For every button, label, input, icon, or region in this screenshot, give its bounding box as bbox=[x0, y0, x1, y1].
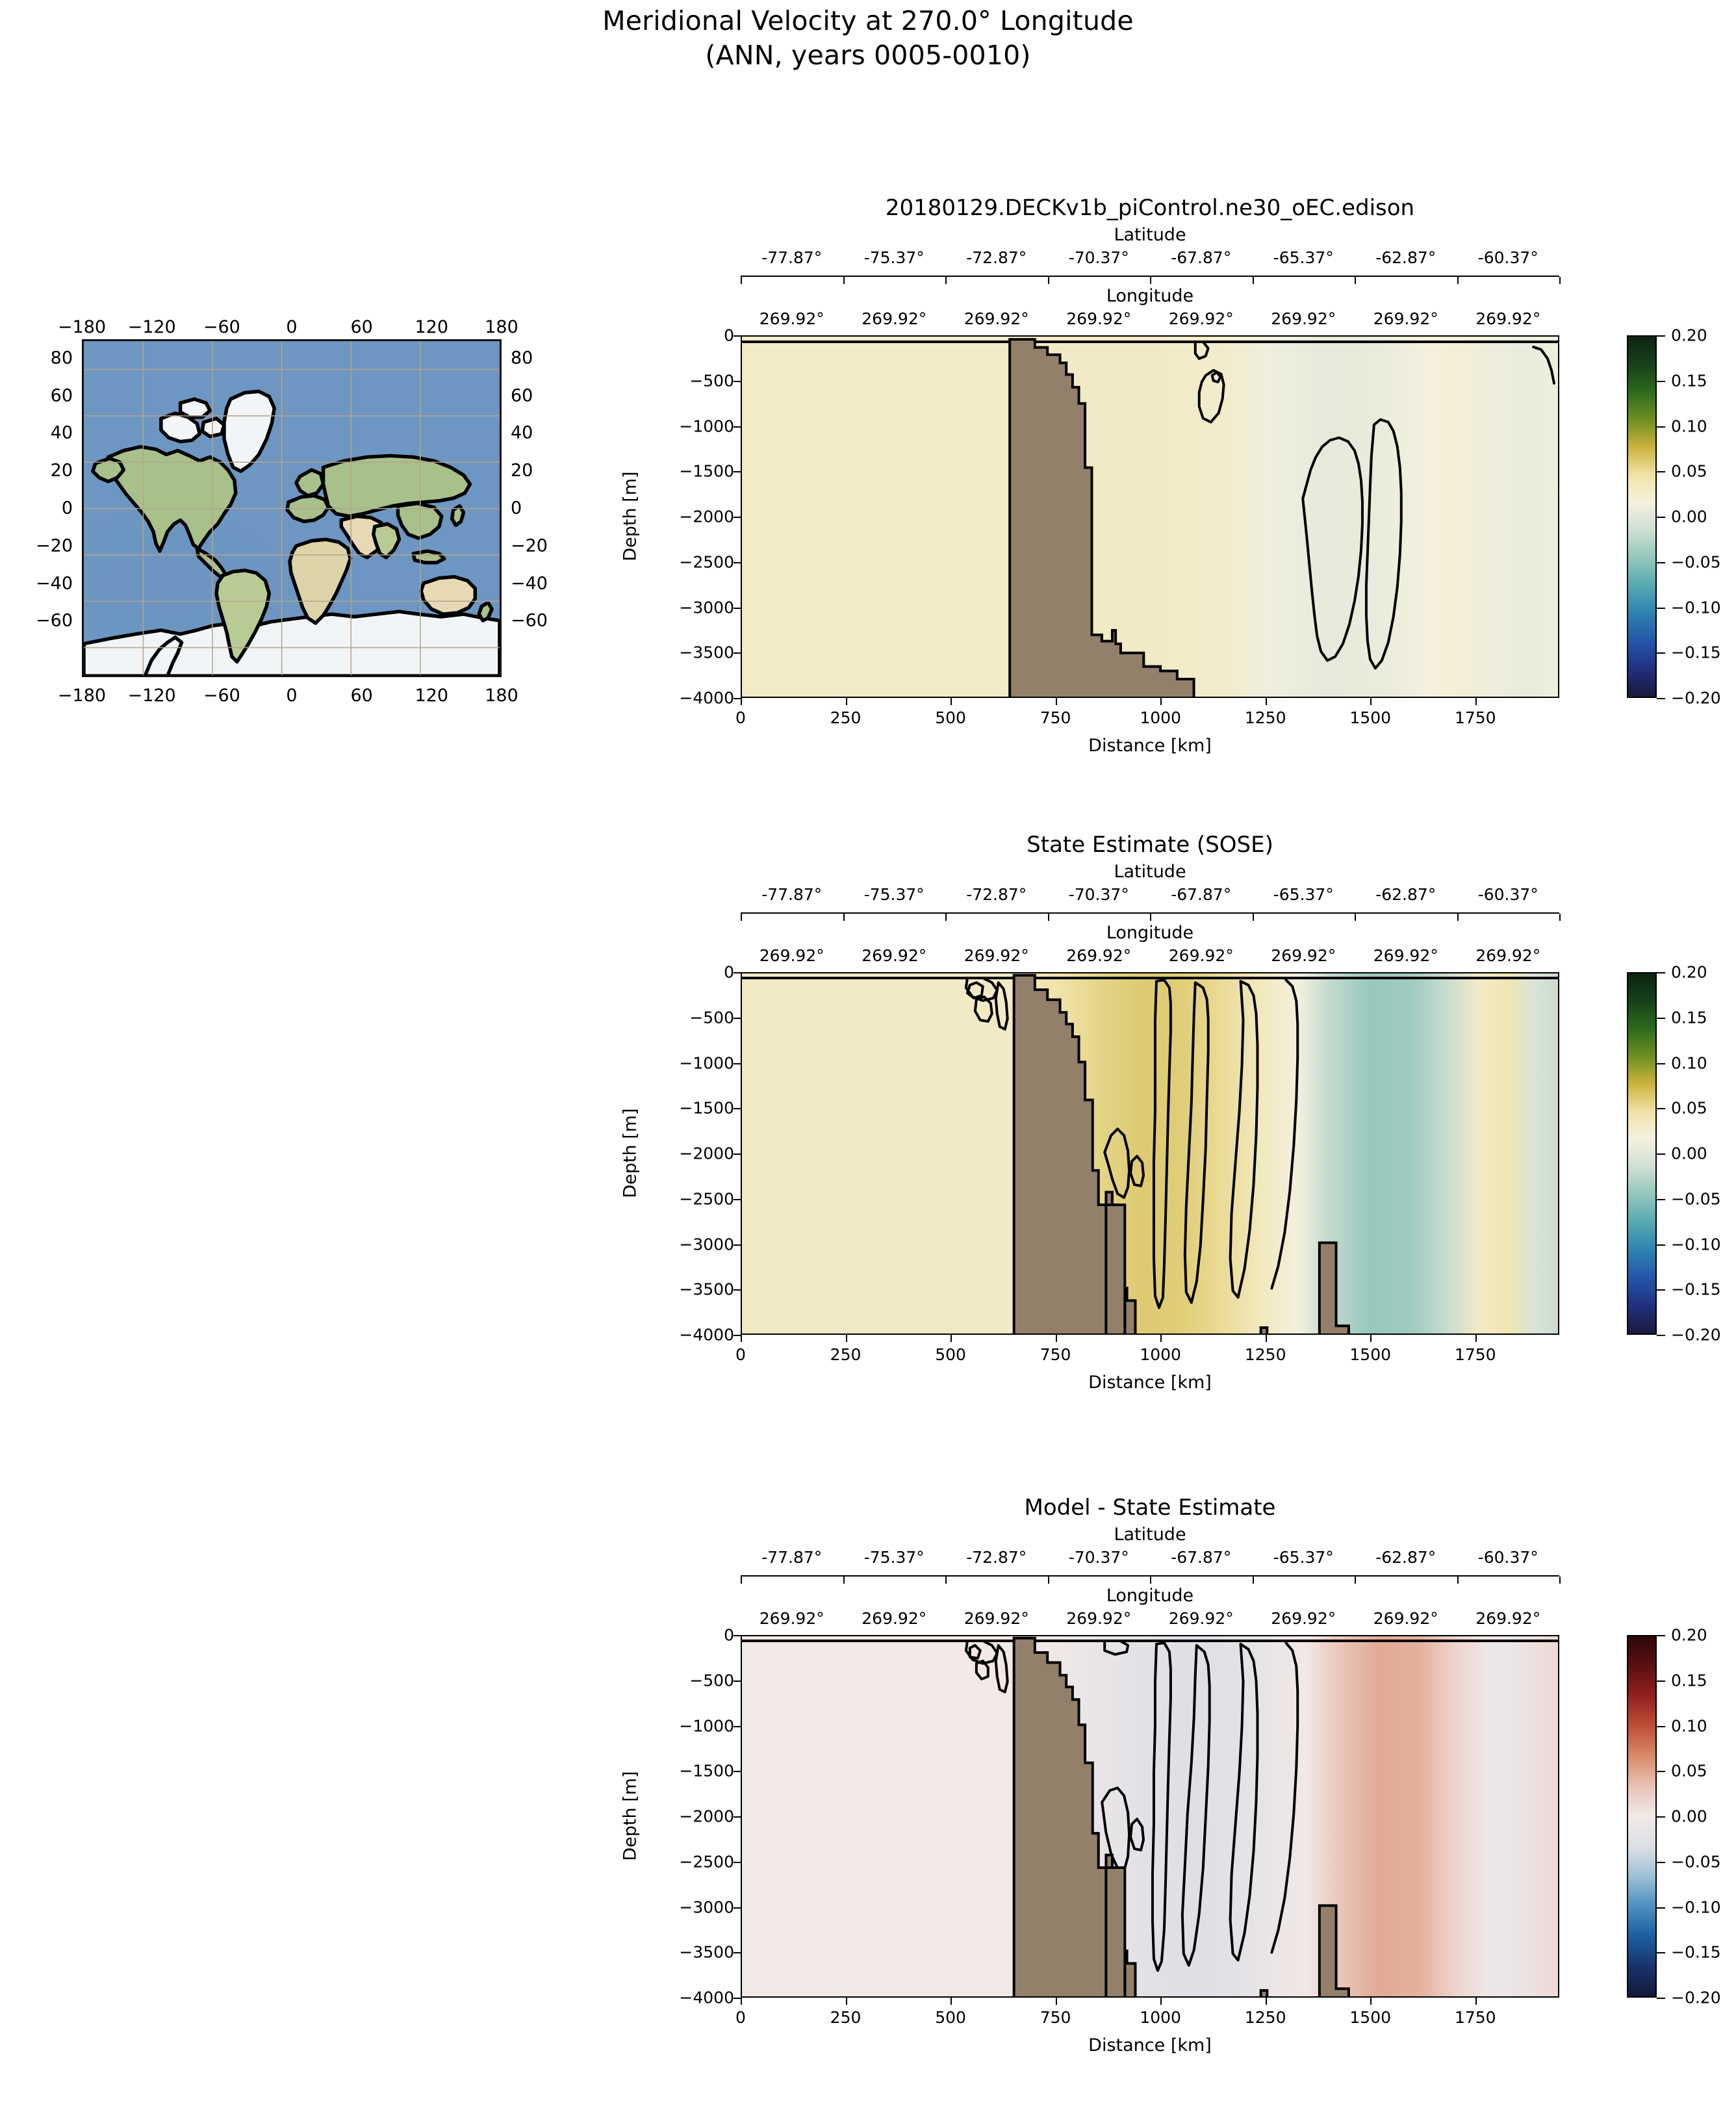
latitude-axis-tickmark bbox=[1559, 277, 1561, 284]
depth-tickmark bbox=[734, 1289, 741, 1291]
distance-tickmark bbox=[951, 698, 952, 705]
plot-overlay-sose bbox=[742, 973, 1558, 1335]
distance-tick-label: 1750 bbox=[1455, 708, 1496, 727]
colorbar-tickmark bbox=[1657, 1771, 1665, 1772]
colorbar-tick-label: 0.00 bbox=[1671, 1144, 1707, 1163]
latitude-axis-tickmark bbox=[1457, 1577, 1459, 1584]
map-lat-tick: 20 bbox=[511, 461, 569, 481]
panel-title-model: 20180129.DECKv1b_piControl.ne30_oEC.edis… bbox=[741, 195, 1559, 221]
map-lon-tick: −60 bbox=[203, 317, 240, 337]
depth-tick-label: −1500 bbox=[637, 1099, 734, 1118]
depth-tickmark bbox=[734, 1108, 741, 1109]
suptitle-line-2: (ANN, years 0005-0010) bbox=[0, 38, 1736, 73]
map-lat-tick: 60 bbox=[14, 385, 73, 406]
colorbar-tick-label: −0.20 bbox=[1671, 1326, 1721, 1345]
distance-tick-label: 1750 bbox=[1455, 2008, 1496, 2027]
distance-tickmark bbox=[1475, 1998, 1477, 2005]
depth-tick-label: −1500 bbox=[637, 462, 734, 481]
latitude-axis-label: Latitude bbox=[741, 225, 1559, 245]
colorbar-tickmark bbox=[1657, 1862, 1665, 1863]
map-lat-tick: 0 bbox=[511, 498, 569, 519]
depth-tickmark bbox=[734, 1335, 741, 1336]
distance-tickmark bbox=[951, 1998, 952, 2005]
distance-tick-label: 1500 bbox=[1349, 1345, 1391, 1364]
longitude-axis-label: Longitude bbox=[741, 286, 1559, 306]
distance-tick-label: 1250 bbox=[1245, 1345, 1286, 1364]
depth-tickmark bbox=[734, 972, 741, 973]
bathymetry-land-mask bbox=[742, 1638, 1558, 1998]
depth-tickmark bbox=[734, 1952, 741, 1953]
map-lon-tick: 180 bbox=[485, 686, 518, 706]
colorbar-tick-label: −0.10 bbox=[1671, 598, 1721, 617]
plot-overlay-difference bbox=[742, 1636, 1558, 1998]
latitude-axis-tickmark bbox=[1150, 1577, 1151, 1584]
latitude-axis-tickmark bbox=[1355, 914, 1356, 921]
depth-axis-label: Depth [m] bbox=[620, 432, 641, 601]
longitude-tick-row: 269.92°269.92°269.92°269.92°269.92°269.9… bbox=[741, 946, 1559, 968]
depth-tickmark bbox=[734, 1153, 741, 1155]
longitude-tick: 269.92° bbox=[1271, 1609, 1336, 1628]
distance-axis-label: Distance [km] bbox=[741, 2035, 1559, 2055]
distance-tickmark bbox=[741, 1998, 742, 2005]
bathymetry-ridge-block bbox=[1106, 1205, 1125, 1335]
zero-contour-line bbox=[1185, 983, 1208, 1302]
map-lat-tick: −20 bbox=[14, 535, 73, 556]
map-lon-tick: −120 bbox=[128, 686, 176, 706]
colorbar-tickmark bbox=[1657, 471, 1665, 472]
depth-tickmark bbox=[734, 698, 741, 699]
map-lon-ticks-top: −180−120−60060120180 bbox=[78, 312, 513, 341]
depth-tickmark bbox=[734, 381, 741, 382]
latitude-axis-tickmark bbox=[843, 277, 845, 284]
latitude-tick: -70.37° bbox=[1069, 885, 1129, 904]
depth-tick-label: −4000 bbox=[637, 1989, 734, 2007]
depth-tickmark bbox=[734, 1862, 741, 1863]
colorbar-tickmark bbox=[1657, 1635, 1665, 1636]
colorbar-tick-label: 0.00 bbox=[1671, 1807, 1707, 1826]
colorbar-tickmark bbox=[1657, 1952, 1665, 1953]
distance-tick-label: 1000 bbox=[1140, 1345, 1181, 1364]
latitude-tick-row: -77.87°-75.37°-72.87°-70.37°-67.87°-65.3… bbox=[741, 1548, 1559, 1570]
colorbar-tickmark bbox=[1657, 972, 1665, 973]
distance-tickmark bbox=[1370, 698, 1372, 705]
distance-tickmark bbox=[741, 1335, 742, 1342]
map-lon-tick: 0 bbox=[286, 317, 297, 337]
map-lat-tick: −40 bbox=[511, 573, 569, 593]
plot-overlay-model bbox=[742, 337, 1558, 698]
colorbar-tick-label: 0.20 bbox=[1671, 326, 1707, 345]
distance-tickmark bbox=[846, 1335, 847, 1342]
bathymetry-land-mask bbox=[742, 339, 1558, 698]
map-lat-tick: 40 bbox=[14, 423, 73, 443]
depth-tick-label: −4000 bbox=[637, 1326, 734, 1345]
latitude-tick: -65.37° bbox=[1273, 1548, 1334, 1567]
depth-tick-label: −3500 bbox=[637, 643, 734, 662]
depth-tick-label: −2000 bbox=[637, 1807, 734, 1826]
colorbar-tick-label: 0.00 bbox=[1671, 508, 1707, 526]
colorbar-tick-label: 0.10 bbox=[1671, 417, 1707, 435]
map-lon-tick: −120 bbox=[128, 317, 176, 337]
depth-tickmark bbox=[734, 1907, 741, 1909]
map-lat-tick: −20 bbox=[511, 535, 569, 556]
distance-tickmark bbox=[1056, 1998, 1057, 2005]
depth-tickmark bbox=[734, 1063, 741, 1064]
colorbar-tickmark bbox=[1657, 335, 1665, 337]
latitude-axis-tickmark bbox=[741, 914, 742, 921]
depth-tick-label: −3000 bbox=[637, 1898, 734, 1916]
longitude-tick: 269.92° bbox=[1169, 1609, 1234, 1628]
depth-tickmark bbox=[734, 652, 741, 654]
zero-contour-line bbox=[1153, 1643, 1171, 1970]
colorbar-tick-label: 0.20 bbox=[1671, 963, 1707, 982]
latitude-axis-tickmark bbox=[1048, 1577, 1049, 1584]
longitude-tick: 269.92° bbox=[1271, 946, 1336, 965]
latitude-tick: -67.87° bbox=[1171, 1548, 1231, 1567]
bathymetry-land-mask bbox=[742, 975, 1558, 1335]
latitude-tick: -75.37° bbox=[864, 1548, 925, 1567]
longitude-tick: 269.92° bbox=[759, 1609, 824, 1628]
colorbar-tick-label: −0.05 bbox=[1671, 552, 1721, 571]
map-landmasses bbox=[84, 341, 500, 676]
figure-suptitle: Meridional Velocity at 270.0° Longitude … bbox=[0, 4, 1736, 73]
map-lat-tick: −60 bbox=[511, 611, 569, 631]
longitude-tick: 269.92° bbox=[862, 309, 926, 328]
map-lon-tick: 180 bbox=[485, 317, 518, 337]
map-lon-tick: −180 bbox=[58, 686, 106, 706]
latitude-tick: -72.87° bbox=[966, 248, 1027, 267]
zero-contour-line bbox=[1195, 342, 1208, 359]
latitude-tick: -62.87° bbox=[1375, 248, 1436, 267]
longitude-tick: 269.92° bbox=[862, 1609, 926, 1628]
zero-contour-line bbox=[1182, 1645, 1210, 1965]
longitude-tick: 269.92° bbox=[1373, 309, 1438, 328]
depth-tickmark bbox=[734, 517, 741, 518]
colorbar-tick-label: 0.15 bbox=[1671, 371, 1707, 390]
zero-contour-line bbox=[1303, 438, 1362, 661]
panel-title-sose: State Estimate (SOSE) bbox=[741, 832, 1559, 858]
depth-tick-label: −2500 bbox=[637, 552, 734, 571]
latitude-tick: -70.37° bbox=[1069, 248, 1129, 267]
distance-tick-label: 1000 bbox=[1140, 2008, 1181, 2027]
map-lon-tick: −60 bbox=[203, 686, 240, 706]
distance-tick-label: 750 bbox=[1040, 2008, 1071, 2027]
map-lon-ticks-bottom: −180−120−60060120180 bbox=[82, 684, 502, 706]
latitude-axis-spine bbox=[741, 1575, 1559, 1577]
depth-tickmark bbox=[734, 1998, 741, 1999]
depth-tick-label: −1000 bbox=[637, 1716, 734, 1735]
zero-contour-line bbox=[996, 983, 1008, 1029]
latitude-axis-tickmark bbox=[1253, 1577, 1254, 1584]
zero-contour-line bbox=[967, 983, 983, 998]
latitude-axis-tickmark bbox=[1559, 914, 1561, 921]
longitude-tick: 269.92° bbox=[964, 946, 1029, 965]
depth-tick-label: −3000 bbox=[637, 1235, 734, 1254]
zero-contour-line bbox=[1212, 372, 1221, 382]
distance-tickmark bbox=[1160, 698, 1162, 705]
colorbar-tickmark bbox=[1657, 1998, 1665, 1999]
map-lat-tick: 80 bbox=[14, 348, 73, 368]
colorbar-difference bbox=[1627, 1635, 1657, 1998]
colorbar-tick-label: −0.15 bbox=[1671, 1943, 1721, 1962]
distance-tick-label: 500 bbox=[935, 708, 966, 727]
colorbar-tick-label: −0.10 bbox=[1671, 1898, 1721, 1916]
longitude-tick: 269.92° bbox=[862, 946, 926, 965]
depth-tickmark bbox=[734, 1635, 741, 1636]
distance-tickmark bbox=[1056, 698, 1057, 705]
depth-tickmark bbox=[734, 335, 741, 337]
latitude-axis-tickmark bbox=[1253, 277, 1254, 284]
colorbar-tickmark bbox=[1657, 1244, 1665, 1246]
distance-tick-label: 1250 bbox=[1245, 2008, 1286, 2027]
zero-contour-line bbox=[1231, 1644, 1258, 1960]
latitude-axis-label: Latitude bbox=[741, 862, 1559, 882]
latitude-tick: -65.37° bbox=[1273, 248, 1334, 267]
depth-tick-label: −1500 bbox=[637, 1762, 734, 1781]
distance-tickmark bbox=[1266, 698, 1267, 705]
colorbar-tick-label: −0.15 bbox=[1671, 1280, 1721, 1299]
latitude-tick: -72.87° bbox=[966, 1548, 1027, 1567]
latitude-tick: -67.87° bbox=[1171, 885, 1231, 904]
longitude-tick: 269.92° bbox=[759, 946, 824, 965]
longitude-tick: 269.92° bbox=[759, 309, 824, 328]
colorbar-tickmark bbox=[1657, 652, 1665, 654]
distance-tick-label: 750 bbox=[1040, 708, 1071, 727]
colorbar-tick-label: −0.20 bbox=[1671, 1989, 1721, 2007]
longitude-tick: 269.92° bbox=[1066, 1609, 1131, 1628]
longitude-tick: 269.92° bbox=[1169, 309, 1234, 328]
latitude-axis-tickmark bbox=[1150, 277, 1151, 284]
colorbar-tickmark bbox=[1657, 698, 1665, 699]
zero-contour-line bbox=[1154, 980, 1171, 1307]
latitude-tick: -60.37° bbox=[1478, 248, 1538, 267]
depth-tick-label: −4000 bbox=[637, 689, 734, 708]
colorbar-tickmark bbox=[1657, 1199, 1665, 1200]
distance-tick-label: 250 bbox=[830, 708, 862, 727]
depth-tick-label: −3500 bbox=[637, 1943, 734, 1962]
distance-tickmark bbox=[1475, 698, 1477, 705]
longitude-tick: 269.92° bbox=[964, 1609, 1029, 1628]
latitude-axis-tickmark bbox=[843, 914, 845, 921]
colorbar-tickmark bbox=[1657, 426, 1665, 428]
colorbar-tickmark bbox=[1657, 1335, 1665, 1336]
bathymetry-ridge-block bbox=[1106, 1868, 1125, 1998]
depth-tickmark bbox=[734, 1726, 741, 1727]
map-lat-tick: −40 bbox=[14, 573, 73, 593]
depth-axis-label: Depth [m] bbox=[620, 1732, 641, 1901]
distance-tick-label: 250 bbox=[830, 2008, 862, 2027]
depth-tick-label: −1000 bbox=[637, 417, 734, 435]
distance-tickmark bbox=[1056, 1335, 1057, 1342]
colorbar-tick-label: −0.15 bbox=[1671, 643, 1721, 662]
zero-contour-line bbox=[1104, 1641, 1128, 1655]
colorbar-tickmark bbox=[1657, 1816, 1665, 1818]
latitude-tick: -72.87° bbox=[966, 885, 1027, 904]
latitude-axis-spine bbox=[741, 276, 1559, 277]
colorbar-sose bbox=[1627, 972, 1657, 1335]
distance-tickmark bbox=[846, 1998, 847, 2005]
suptitle-line-1: Meridional Velocity at 270.0° Longitude bbox=[602, 5, 1134, 36]
latitude-tick: -60.37° bbox=[1478, 885, 1538, 904]
latitude-axis-tickmark bbox=[1355, 277, 1356, 284]
depth-tick-label: −500 bbox=[637, 371, 734, 390]
colorbar-tick-label: 0.05 bbox=[1671, 462, 1707, 481]
depth-tickmark bbox=[734, 562, 741, 563]
latitude-axis-tickmark bbox=[1253, 914, 1254, 921]
colorbar-tickmark bbox=[1657, 1018, 1665, 1019]
distance-tick-label: 500 bbox=[935, 2008, 966, 2027]
distance-tick-label: 1000 bbox=[1140, 708, 1181, 727]
latitude-tick-row: -77.87°-75.37°-72.87°-70.37°-67.87°-65.3… bbox=[741, 885, 1559, 907]
latitude-axis-tickmark bbox=[843, 1577, 845, 1584]
colorbar-model bbox=[1627, 335, 1657, 698]
depth-tick-label: −1000 bbox=[637, 1053, 734, 1072]
distance-tickmark bbox=[1266, 1998, 1267, 2005]
depth-tick-label: −2000 bbox=[637, 1144, 734, 1163]
zero-contour-line bbox=[1104, 1129, 1129, 1198]
latitude-tick: -77.87° bbox=[761, 885, 822, 904]
distance-tickmark bbox=[1370, 1335, 1372, 1342]
map-lon-tick: 120 bbox=[415, 317, 449, 337]
depth-tickmark bbox=[734, 608, 741, 609]
depth-tickmark bbox=[734, 426, 741, 428]
longitude-tick: 269.92° bbox=[1475, 946, 1540, 965]
latitude-axis-tickmark bbox=[1457, 914, 1459, 921]
distance-tickmark bbox=[846, 698, 847, 705]
colorbar-tick-label: 0.05 bbox=[1671, 1099, 1707, 1118]
colorbar-tick-label: −0.10 bbox=[1671, 1235, 1721, 1254]
depth-tick-label: 0 bbox=[637, 1626, 734, 1645]
depth-tick-label: −500 bbox=[637, 1008, 734, 1027]
longitude-axis-label: Longitude bbox=[741, 1586, 1559, 1606]
colorbar-tick-label: 0.10 bbox=[1671, 1053, 1707, 1072]
colorbar-tick-label: 0.20 bbox=[1671, 1626, 1707, 1645]
depth-tickmark bbox=[734, 1018, 741, 1019]
zero-contour-line bbox=[1231, 981, 1258, 1297]
longitude-tick: 269.92° bbox=[1169, 946, 1234, 965]
colorbar-tickmark bbox=[1657, 1289, 1665, 1291]
latitude-tick: -67.87° bbox=[1171, 248, 1231, 267]
latitude-axis-tickmark bbox=[1355, 1577, 1356, 1584]
colorbar-tick-label: 0.05 bbox=[1671, 1762, 1707, 1781]
colorbar-tickmark bbox=[1657, 608, 1665, 609]
depth-tickmark bbox=[734, 1681, 741, 1682]
longitude-tick: 269.92° bbox=[964, 309, 1029, 328]
map-lat-tick: 20 bbox=[14, 461, 73, 481]
map-lat-tick: 60 bbox=[511, 385, 569, 406]
cross-section-plot-difference bbox=[741, 1635, 1559, 1998]
colorbar-tickmark bbox=[1657, 562, 1665, 563]
latitude-tick: -75.37° bbox=[864, 885, 925, 904]
latitude-axis-tickmark bbox=[1048, 914, 1049, 921]
colorbar-tickmark bbox=[1657, 1153, 1665, 1155]
map-lat-tick: 40 bbox=[511, 423, 569, 443]
longitude-tick: 269.92° bbox=[1066, 946, 1131, 965]
colorbar-tick-label: −0.05 bbox=[1671, 1189, 1721, 1208]
zero-contour-line bbox=[1130, 1156, 1143, 1186]
longitude-tick: 269.92° bbox=[1373, 1609, 1438, 1628]
latitude-axis-spine bbox=[741, 912, 1559, 914]
figure-canvas: Meridional Velocity at 270.0° Longitude … bbox=[0, 0, 1736, 2125]
latitude-axis-tickmark bbox=[741, 1577, 742, 1584]
colorbar-tickmark bbox=[1657, 517, 1665, 518]
cross-section-plot-sose bbox=[741, 972, 1559, 1335]
zero-contour-line bbox=[1271, 980, 1297, 1288]
latitude-tick: -75.37° bbox=[864, 248, 925, 267]
latitude-axis-label: Latitude bbox=[741, 1525, 1559, 1545]
distance-tick-label: 0 bbox=[735, 1345, 746, 1364]
map-plot-area bbox=[82, 339, 502, 677]
map-lon-tick: 60 bbox=[350, 686, 372, 706]
depth-tick-label: −3500 bbox=[637, 1280, 734, 1299]
longitude-tick-row: 269.92°269.92°269.92°269.92°269.92°269.9… bbox=[741, 1609, 1559, 1631]
latitude-tick: -62.87° bbox=[1375, 885, 1436, 904]
longitude-tick: 269.92° bbox=[1271, 309, 1336, 328]
zero-contour-line bbox=[996, 1645, 1008, 1692]
latitude-tick-row: -77.87°-75.37°-72.87°-70.37°-67.87°-65.3… bbox=[741, 248, 1559, 270]
distance-axis-label: Distance [km] bbox=[741, 736, 1559, 756]
depth-tick-label: 0 bbox=[637, 963, 734, 982]
longitude-tick: 269.92° bbox=[1475, 1609, 1540, 1628]
colorbar-tickmark bbox=[1657, 1063, 1665, 1064]
latitude-axis-tickmark bbox=[1559, 1577, 1561, 1584]
colorbar-tickmark bbox=[1657, 381, 1665, 382]
latitude-tick: -70.37° bbox=[1069, 1548, 1129, 1567]
map-lon-tick: 120 bbox=[415, 686, 449, 706]
latitude-tick: -77.87° bbox=[761, 1548, 822, 1567]
colorbar-tick-label: 0.15 bbox=[1671, 1008, 1707, 1027]
distance-tickmark bbox=[1475, 1335, 1477, 1342]
longitude-tick: 269.92° bbox=[1373, 946, 1438, 965]
distance-tickmark bbox=[1266, 1335, 1267, 1342]
distance-tick-label: 250 bbox=[830, 1345, 862, 1364]
longitude-tick: 269.92° bbox=[1475, 309, 1540, 328]
map-lon-tick: 0 bbox=[286, 686, 297, 706]
colorbar-tickmark bbox=[1657, 1681, 1665, 1682]
depth-tickmark bbox=[734, 1771, 741, 1772]
longitude-tick: 269.92° bbox=[1066, 309, 1131, 328]
latitude-axis-tickmark bbox=[945, 914, 947, 921]
depth-tickmark bbox=[734, 1244, 741, 1246]
colorbar-tickmark bbox=[1657, 1108, 1665, 1109]
colorbar-tick-label: 0.15 bbox=[1671, 1671, 1707, 1690]
map-lon-tick: −180 bbox=[58, 317, 106, 337]
latitude-axis-tickmark bbox=[1457, 277, 1459, 284]
distance-tick-label: 1500 bbox=[1349, 708, 1391, 727]
distance-tickmark bbox=[741, 698, 742, 705]
latitude-axis-tickmark bbox=[945, 277, 947, 284]
map-lon-tick: 60 bbox=[350, 317, 372, 337]
distance-tickmark bbox=[1370, 1998, 1372, 2005]
zero-contour-line bbox=[1366, 420, 1401, 669]
distance-tickmark bbox=[1160, 1335, 1162, 1342]
zero-contour-line bbox=[970, 1645, 980, 1658]
depth-tick-label: 0 bbox=[637, 326, 734, 345]
latitude-axis-tickmark bbox=[945, 1577, 947, 1584]
depth-tickmark bbox=[734, 471, 741, 472]
distance-tick-label: 1750 bbox=[1455, 1345, 1496, 1364]
depth-tick-label: −2500 bbox=[637, 1852, 734, 1871]
distance-tick-label: 750 bbox=[1040, 1345, 1071, 1364]
depth-tick-label: −500 bbox=[637, 1671, 734, 1690]
panel-title-difference: Model - State Estimate bbox=[741, 1495, 1559, 1521]
zero-contour-line bbox=[1533, 347, 1554, 383]
colorbar-tickmark bbox=[1657, 1726, 1665, 1727]
zero-contour-line bbox=[1130, 1819, 1143, 1850]
latitude-axis-tickmark bbox=[1048, 277, 1049, 284]
cross-section-plot-model bbox=[741, 335, 1559, 698]
depth-tick-label: −3000 bbox=[637, 598, 734, 617]
colorbar-tick-label: 0.10 bbox=[1671, 1716, 1707, 1735]
